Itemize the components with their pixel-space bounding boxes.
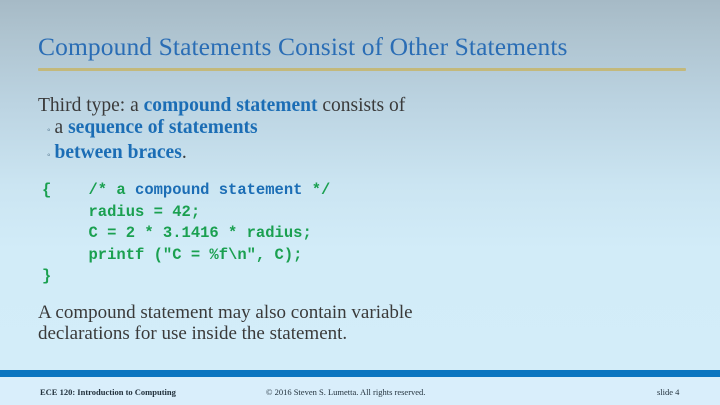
page-title: Compound Statements Consist of Other Sta…	[38, 32, 686, 62]
lead-paragraph: Third type: a compound statement consist…	[38, 94, 678, 117]
code-line-3: C = 2 * 3.1416 * radius;	[42, 223, 678, 245]
title-area: Compound Statements Consist of Other Sta…	[38, 32, 686, 71]
code-line-1-comment-open: { /* a	[42, 181, 135, 199]
footer-course-label: ECE 120: Introduction to Computing	[40, 387, 176, 397]
code-line-1: { /* a compound statement */	[42, 180, 678, 202]
list-item-emphasis: sequence of statements	[68, 117, 258, 138]
list-item: ◦ between braces.	[47, 142, 678, 167]
bullet-marker-icon: ◦	[47, 120, 51, 142]
list-item-emphasis: between braces	[55, 142, 182, 163]
lead-text-after: consists of	[317, 95, 405, 116]
list-item: ◦ a sequence of statements	[47, 117, 678, 142]
code-line-4: printf ("C = %f\n", C);	[42, 245, 678, 267]
title-underline-rule	[38, 68, 686, 71]
slide-canvas: Compound Statements Consist of Other Sta…	[0, 0, 720, 405]
footer-slide-number: slide 4	[657, 387, 679, 397]
list-item-plain-before: a	[55, 117, 69, 138]
code-line-2: radius = 42;	[42, 202, 678, 224]
code-line-1-highlight: compound statement	[135, 181, 302, 199]
body-content: Third type: a compound statement consist…	[38, 94, 678, 344]
list-item-text: a sequence of statements	[55, 117, 258, 139]
code-block: { /* a compound statement */ radius = 42…	[42, 180, 678, 288]
lead-text-before: Third type: a	[38, 95, 144, 116]
footer-divider-bar	[0, 370, 720, 377]
list-item-plain-after: .	[182, 142, 187, 163]
code-line-5: }	[42, 266, 678, 288]
bullet-marker-icon: ◦	[47, 145, 51, 167]
code-line-1-comment-close: */	[302, 181, 330, 199]
footer-copyright-label: © 2016 Steven S. Lumetta. All rights res…	[266, 387, 425, 397]
list-item-text: between braces.	[55, 142, 187, 164]
closing-paragraph: A compound statement may also contain va…	[38, 302, 508, 344]
lead-emphasis: compound statement	[144, 95, 318, 116]
